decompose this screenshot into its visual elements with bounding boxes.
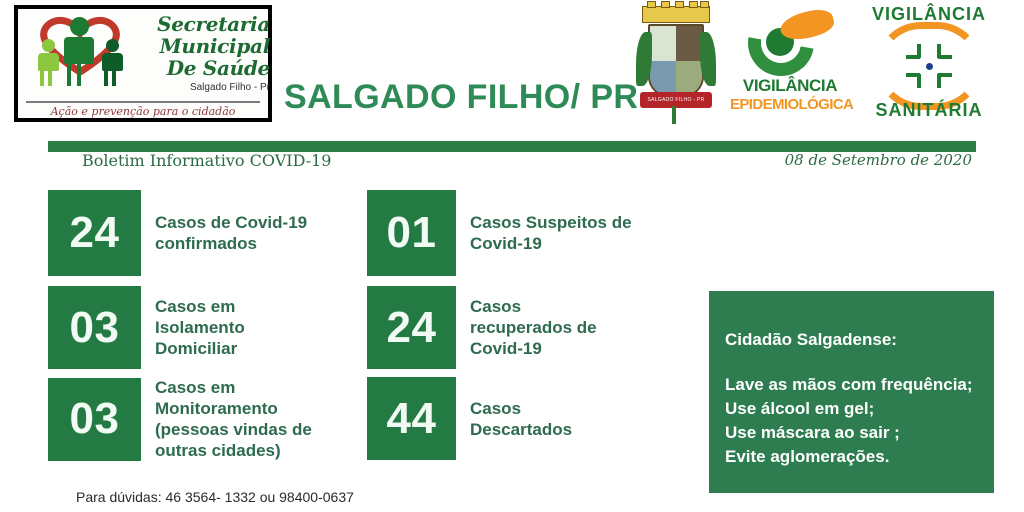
crest-stem xyxy=(672,106,676,124)
advisory-line: Evite aglomerações. xyxy=(725,445,994,469)
stat-card-recovered: 24 Casos recuperados de Covid-19 xyxy=(367,286,597,369)
stat-label-line: Casos Suspeitos de xyxy=(470,212,632,233)
logo-line-3: De Saúde xyxy=(136,57,270,79)
stat-value: 24 xyxy=(48,190,141,276)
stat-value: 03 xyxy=(48,378,141,461)
stat-label-line: recuperados de xyxy=(470,317,597,338)
secretaria-logo: Secretaria Municipal De Saúde Salgado Fi… xyxy=(14,5,272,122)
advisory-panel: Cidadão Salgadense: Lave as mãos com fre… xyxy=(709,291,994,493)
page-header: Secretaria Municipal De Saúde Salgado Fi… xyxy=(0,0,1024,136)
stat-label-line: Domiciliar xyxy=(155,338,245,359)
stat-value: 01 xyxy=(367,190,456,276)
stat-label-line: Monitoramento xyxy=(155,398,312,419)
logo-divider xyxy=(26,101,260,103)
stat-label-line: Casos xyxy=(470,398,572,419)
municipal-crest-icon: SALGADO FILHO - PR xyxy=(634,4,718,128)
logo-artwork xyxy=(24,11,136,93)
stat-label-line: Casos em xyxy=(155,377,312,398)
stat-label: Casos em Monitoramento (pessoas vindas d… xyxy=(141,377,312,461)
sanitaria-crosshair-icon xyxy=(906,44,952,88)
stat-label-line: Casos de Covid-19 xyxy=(155,212,307,233)
vigilancia-epidemiologica-logo: VIGILÂNCIA EPIDEMIOLÓGICA xyxy=(730,6,850,122)
stat-value: 24 xyxy=(367,286,456,369)
advisory-line: Use álcool em gel; xyxy=(725,397,994,421)
page-title: SALGADO FILHO/ PR xyxy=(284,78,638,117)
advisory-line: Use máscara ao sair ; xyxy=(725,421,994,445)
stat-label-line: (pessoas vindas de xyxy=(155,419,312,440)
crest-leaf-right xyxy=(700,32,716,86)
stat-card-discarded: 44 Casos Descartados xyxy=(367,377,572,460)
advisory-line: Lave as mãos com frequência; xyxy=(725,373,994,397)
family-figure-child-right xyxy=(102,39,123,91)
stat-label-line: Covid-19 xyxy=(470,233,632,254)
stat-label-line: Covid-19 xyxy=(470,338,597,359)
logo-line-2: Municipal xyxy=(136,35,270,57)
logo-line-1: Secretaria xyxy=(136,13,270,35)
stat-label-line: Casos em xyxy=(155,296,245,317)
stat-card-monitoring: 03 Casos em Monitoramento (pessoas vinda… xyxy=(48,377,312,461)
logo-city-label: Salgado Filho - Pr xyxy=(136,82,270,93)
stat-label-line: outras cidades) xyxy=(155,440,312,461)
epidemiologica-line-1: VIGILÂNCIA xyxy=(730,76,850,96)
logo-slogan: Ação e prevenção para o cidadão xyxy=(18,105,268,118)
family-figure-child-left xyxy=(38,39,59,91)
stat-label-line: Casos xyxy=(470,296,597,317)
vigilancia-sanitaria-logo: VIGILÂNCIA SANITÁRIA xyxy=(862,2,996,128)
stat-card-suspected: 01 Casos Suspeitos de Covid-19 xyxy=(367,190,632,276)
crest-ribbon-text: SALGADO FILHO - PR xyxy=(640,92,712,108)
stat-value: 03 xyxy=(48,286,141,369)
epidemiologica-line-2: EPIDEMIOLÓGICA xyxy=(730,96,850,113)
stat-label: Casos Suspeitos de Covid-19 xyxy=(456,212,632,254)
crest-shield xyxy=(648,24,704,98)
family-figure-adult xyxy=(64,17,94,91)
contact-footer: Para dúvidas: 46 3564- 1332 ou 98400-063… xyxy=(76,489,354,505)
sanitaria-line-2: SANITÁRIA xyxy=(862,100,996,121)
crest-ribbon: SALGADO FILHO - PR xyxy=(640,92,712,108)
stat-label-line: confirmados xyxy=(155,233,307,254)
stat-label: Casos recuperados de Covid-19 xyxy=(456,296,597,359)
stat-label: Casos em Isolamento Domiciliar xyxy=(141,296,245,359)
epidemiologica-swirl-icon xyxy=(744,6,836,78)
stat-card-home-isolation: 03 Casos em Isolamento Domiciliar xyxy=(48,286,245,369)
bulletin-title: Boletim Informativo COVID-19 xyxy=(82,151,331,170)
bulletin-date: 08 de Setembro de 2020 xyxy=(785,151,972,169)
advisory-title: Cidadão Salgadense: xyxy=(725,329,994,351)
stat-label: Casos Descartados xyxy=(456,398,572,440)
stat-label-line: Isolamento xyxy=(155,317,245,338)
crest-crown xyxy=(642,6,710,23)
stat-label: Casos de Covid-19 confirmados xyxy=(141,212,307,254)
logo-wordmark: Secretaria Municipal De Saúde Salgado Fi… xyxy=(136,13,270,93)
stat-card-confirmed: 24 Casos de Covid-19 confirmados xyxy=(48,190,307,276)
stat-label-line: Descartados xyxy=(470,419,572,440)
stat-value: 44 xyxy=(367,377,456,460)
